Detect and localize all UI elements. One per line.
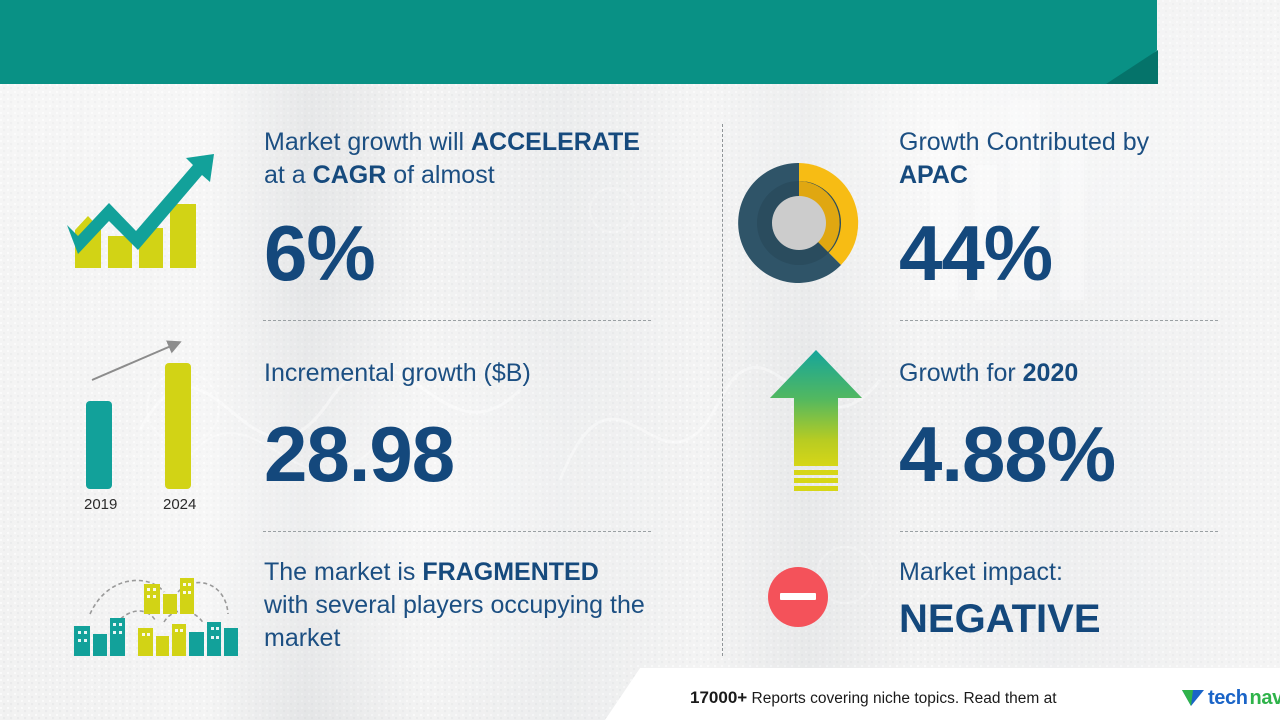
cagr-line2-bold: CAGR — [313, 161, 387, 189]
cagr-line2-prefix: at a — [264, 161, 313, 189]
growth-2020-prefix: Growth for — [899, 359, 1023, 387]
logo-text-navio: navio — [1250, 687, 1280, 710]
market-impact-value: NEGATIVE — [899, 593, 1101, 646]
donut-chart-icon — [734, 158, 864, 288]
logo-text-tech: tech — [1208, 687, 1248, 710]
arrow-up-icon — [766, 348, 866, 496]
bar-label-2019: 2019 — [84, 496, 117, 513]
incremental-growth-value: 28.98 — [264, 415, 454, 493]
fragmented-statement: The market is FRAGMENTED with several pl… — [264, 556, 684, 655]
apac-line2-bold: APAC — [899, 161, 968, 189]
growth-2020-value: 4.88% — [899, 415, 1115, 493]
cagr-statement: Market growth will ACCELERATE at a CAGR … — [264, 126, 664, 192]
cagr-line1-prefix: Market growth will — [264, 128, 471, 156]
technavio-logo[interactable]: technavio™ — [1180, 686, 1280, 710]
technavio-mark-icon — [1180, 686, 1206, 710]
frag-line1-prefix: The market is — [264, 558, 422, 586]
divider-right-2 — [900, 531, 1218, 532]
header-banner — [0, 0, 1157, 84]
bar-label-2024: 2024 — [163, 496, 196, 513]
divider-left-1 — [263, 320, 651, 321]
growth-2020-year: 2020 — [1023, 359, 1079, 387]
growth-2020-label: Growth for 2020 — [899, 357, 1219, 390]
vertical-divider — [722, 124, 723, 656]
divider-left-2 — [263, 531, 651, 532]
footer-text: 17000+ Reports covering niche topics. Re… — [690, 688, 1057, 708]
frag-line2: with several players occupying the — [264, 591, 645, 619]
footer-caption: Reports covering niche topics. Read them… — [752, 690, 1057, 707]
apac-line1: Growth Contributed by — [899, 128, 1149, 156]
cagr-line2-suffix: of almost — [386, 161, 494, 189]
frag-line3: market — [264, 624, 340, 652]
divider-right-1 — [900, 320, 1218, 321]
cagr-line1-bold: ACCELERATE — [471, 128, 640, 156]
minus-circle-icon — [766, 565, 830, 629]
frag-line1-bold: FRAGMENTED — [422, 558, 598, 586]
cagr-value: 6% — [264, 214, 375, 292]
footer-report-count: 17000+ — [690, 688, 747, 707]
incremental-growth-label: Incremental growth ($B) — [264, 357, 664, 390]
apac-value: 44% — [899, 214, 1052, 292]
network-buildings-icon — [68, 556, 243, 661]
bar-compare-icon — [60, 330, 240, 490]
market-impact-label: Market impact: — [899, 556, 1219, 589]
growth-chart-icon — [62, 132, 232, 272]
infographic-page: GLOBAL FLOWER AND ORNAMENTAL PLANTS MARK… — [0, 0, 1280, 720]
apac-statement: Growth Contributed by APAC — [899, 126, 1209, 192]
